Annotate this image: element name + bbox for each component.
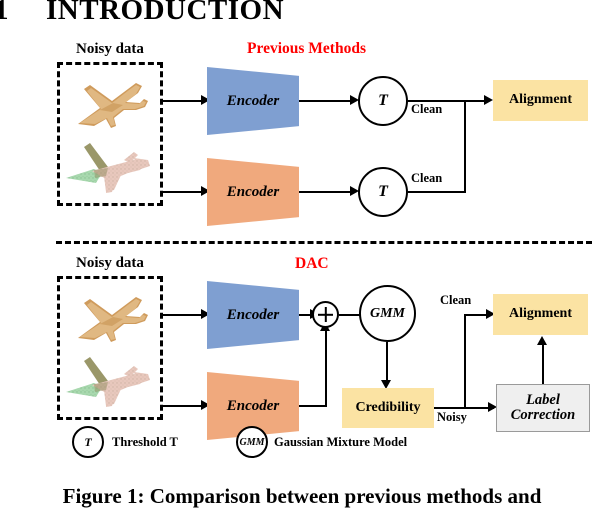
encoder-top-dac[interactable]: Encoder <box>207 281 299 349</box>
noisy-data-label-bottom: Noisy data <box>76 255 144 272</box>
section-number: 1 <box>0 0 46 27</box>
arrow-encoder-to-threshold-bottom <box>299 191 353 193</box>
legend-gmm-icon: GMM <box>236 426 268 458</box>
label-correction-box[interactable]: Label Correction <box>496 384 590 432</box>
arrow-data-to-encoder-dac-bottom <box>163 405 203 407</box>
merge-trunk-previous <box>464 100 466 193</box>
figure-page: 1INTRODUCTION Previous Methods Noisy dat… <box>0 0 606 512</box>
encoder-top-dac-label: Encoder <box>227 307 280 324</box>
legend-threshold-description: Threshold T <box>112 435 178 450</box>
threshold-node-bottom-label: T <box>378 183 388 201</box>
panel-divider <box>56 241 592 244</box>
riser-encoder-bottom-to-sum <box>325 328 327 407</box>
label-correction-line2: Correction <box>511 408 575 423</box>
clean-label-bottom: Clean <box>411 171 442 186</box>
airplane-image-clean-bottom <box>66 283 158 345</box>
arrowhead-label-correction-to-alignment <box>537 336 547 345</box>
alignment-box-previous[interactable]: Alignment <box>493 80 588 121</box>
arrowhead-junction-to-alignment-top <box>484 95 493 105</box>
section-title-text: INTRODUCTION <box>46 0 284 26</box>
alignment-label-top: Alignment <box>509 93 572 108</box>
airplane-image-noisy-bottom <box>64 354 164 416</box>
airplane-image-noisy-top <box>64 140 164 202</box>
credibility-box[interactable]: Credibility <box>342 388 434 428</box>
noisy-label: Noisy <box>437 410 467 425</box>
line-encoder-bottom-to-riser <box>299 405 327 407</box>
arrow-data-to-encoder-top <box>163 100 203 102</box>
legend-threshold-icon: T <box>72 426 104 458</box>
encoder-bottom-label: Encoder <box>227 184 280 201</box>
encoder-bottom-dac-label: Encoder <box>227 398 280 415</box>
legend-threshold-symbol: T <box>84 435 91 450</box>
figure-1: Previous Methods Noisy data <box>0 36 606 482</box>
encoder-top-previous[interactable]: Encoder <box>207 67 299 135</box>
threshold-node-bottom[interactable]: T <box>358 167 408 217</box>
sum-node-dac[interactable] <box>312 301 339 328</box>
arrow-encoder-to-threshold-top <box>299 100 353 102</box>
gmm-node-label: GMM <box>370 306 405 322</box>
clean-branch-riser <box>464 314 466 409</box>
alignment-label-dac: Alignment <box>509 307 572 322</box>
label-correction-line1: Label <box>511 393 575 408</box>
credibility-label: Credibility <box>355 401 420 416</box>
previous-methods-title: Previous Methods <box>247 40 366 58</box>
legend-gmm-description: Gaussian Mixture Model <box>274 435 407 450</box>
figure-caption: Figure 1: Comparison between previous me… <box>0 484 606 509</box>
clean-label-top: Clean <box>411 102 442 117</box>
arrow-data-to-encoder-dac-top <box>163 314 203 316</box>
noisy-data-label-top: Noisy data <box>76 41 144 58</box>
line-threshold-bottom-to-junction <box>408 191 466 193</box>
line-label-correction-to-alignment <box>542 344 544 384</box>
encoder-top-label: Encoder <box>227 93 280 110</box>
arrow-data-to-encoder-bottom <box>163 191 203 193</box>
legend-gmm-symbol: GMM <box>239 437 264 448</box>
airplane-image-clean-top <box>66 69 158 131</box>
alignment-box-dac[interactable]: Alignment <box>493 294 588 335</box>
gmm-node[interactable]: GMM <box>359 285 416 342</box>
threshold-node-top-label: T <box>378 92 388 110</box>
threshold-node-top[interactable]: T <box>358 76 408 126</box>
encoder-bottom-previous[interactable]: Encoder <box>207 158 299 226</box>
line-gmm-to-credibility <box>386 342 388 384</box>
dac-title: DAC <box>295 255 329 273</box>
clean-label-dac: Clean <box>440 293 471 308</box>
page-title: 1INTRODUCTION <box>0 0 414 27</box>
